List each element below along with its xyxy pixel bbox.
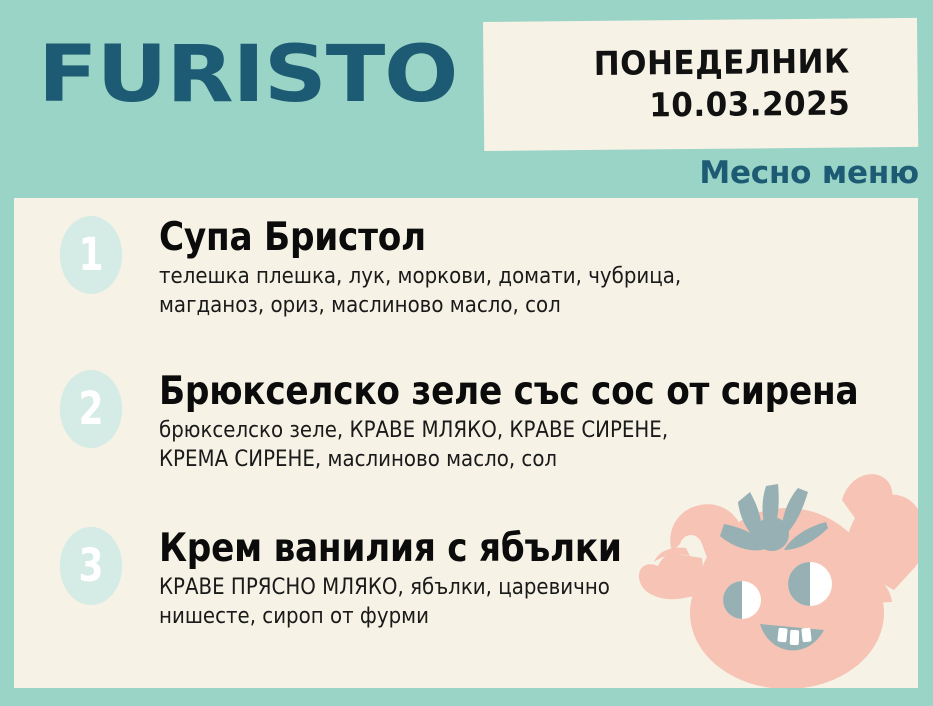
weekday-label: ПОНЕДЕЛНИК [593, 40, 849, 84]
menu-item-number-badge: 3 [60, 527, 122, 605]
menu-item-body: Супа Бристол телешка плешка, лук, морков… [159, 216, 899, 320]
menu-item-number-badge: 2 [60, 370, 122, 448]
menu-kind-label: Месно меню [699, 155, 919, 191]
dish-ingredients: КРАВЕ ПРЯСНО МЛЯКО, ябълки, царевично ни… [159, 573, 825, 631]
menu-item-body: Крем ванилия с ябълки КРАВЕ ПРЯСНО МЛЯКО… [159, 527, 899, 631]
dish-ingredients: телешка плешка, лук, моркови, домати, чу… [159, 262, 825, 320]
dish-title: Брюкселско зеле със сос от сирена [159, 370, 810, 413]
date-card-content: ПОНЕДЕЛНИК 10.03.2025 [577, 40, 850, 127]
date-card: ПОНЕДЕЛНИК 10.03.2025 [483, 18, 918, 151]
menu-item-body: Брюкселско зеле със сос от сирена брюксе… [159, 370, 899, 474]
dish-ingredients: брюкселско зеле, КРАВЕ МЛЯКО, КРАВЕ СИРЕ… [159, 416, 825, 474]
menu-item-number-badge: 1 [60, 216, 122, 294]
date-label: 10.03.2025 [594, 82, 850, 126]
dish-title: Супа Бристол [159, 216, 810, 259]
brand-logo: FURISTO [38, 36, 457, 114]
menu-poster: FURISTO ПОНЕДЕЛНИК 10.03.2025 Месно меню [0, 0, 933, 706]
menu-panel: 1 Супа Бристол телешка плешка, лук, морк… [14, 198, 918, 688]
dish-title: Крем ванилия с ябълки [159, 527, 810, 570]
